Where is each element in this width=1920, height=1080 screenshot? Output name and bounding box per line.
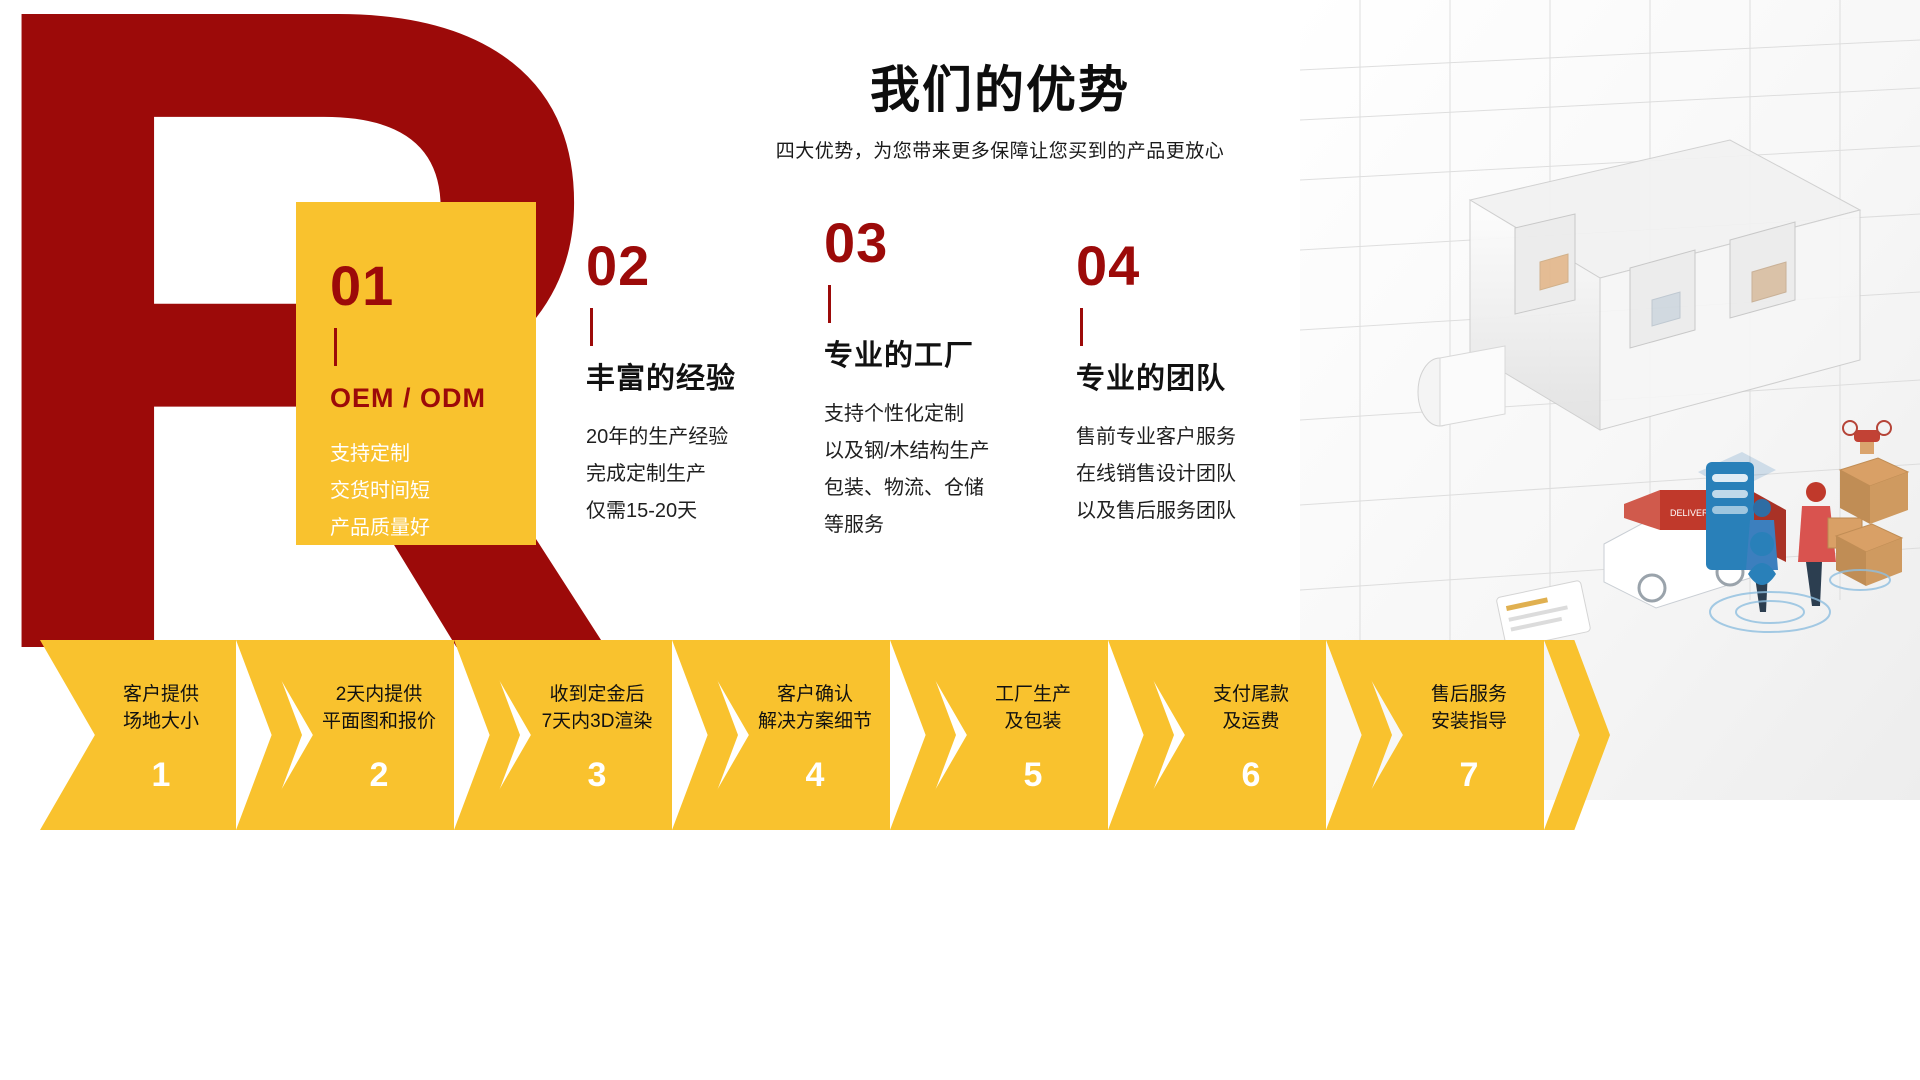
page-title: 我们的优势 [690, 62, 1310, 120]
step-number: 2 [304, 758, 454, 792]
advantage-card-04: 04 专业的团队 售前专业客户服务 在线销售设计团队 以及售后服务团队 [1076, 238, 1326, 530]
advantage-heading: 专业的团队 [1076, 362, 1326, 397]
advantage-line: 产品质量好 [330, 510, 502, 547]
divider-rule [590, 308, 593, 346]
advantage-line: 20年的生产经验 [586, 419, 836, 456]
advantage-line: 包装、物流、仓储 [824, 470, 1074, 507]
advantage-heading: 丰富的经验 [586, 362, 836, 397]
step-line: 售后服务 [1394, 682, 1544, 709]
step-line: 场地大小 [86, 709, 236, 736]
advantage-line: 支持个性化定制 [824, 396, 1074, 433]
advantage-heading: 专业的工厂 [824, 339, 1074, 374]
step-text: 收到定金后 7天内3D渲染 [522, 682, 672, 736]
advantage-line: 售前专业客户服务 [1076, 419, 1326, 456]
advantage-number: 01 [330, 258, 502, 314]
step-number: 6 [1176, 758, 1326, 792]
process-steps: 客户提供 场地大小 1 2天内提供 平面图和报价 2 收到定金后 7天内3D渲染… [0, 640, 1920, 860]
step-line: 及运费 [1176, 709, 1326, 736]
process-step-1: 客户提供 场地大小 1 [40, 640, 284, 830]
advantage-lines: 售前专业客户服务 在线销售设计团队 以及售后服务团队 [1076, 419, 1326, 530]
step-line: 2天内提供 [304, 682, 454, 709]
process-step-6: 支付尾款 及运费 6 [1130, 640, 1374, 830]
step-line: 客户提供 [86, 682, 236, 709]
advantage-lines: 支持定制 交货时间短 产品质量好 [330, 436, 502, 547]
step-text: 工厂生产 及包装 [958, 682, 1108, 736]
step-number: 3 [522, 758, 672, 792]
advantage-number: 02 [586, 238, 836, 294]
process-step-5: 工厂生产 及包装 5 [912, 640, 1156, 830]
advantage-number: 03 [824, 215, 1074, 271]
divider-rule [1080, 308, 1083, 346]
step-line: 安装指导 [1394, 709, 1544, 736]
advantage-line: 完成定制生产 [586, 456, 836, 493]
step-line: 支付尾款 [1176, 682, 1326, 709]
step-text: 2天内提供 平面图和报价 [304, 682, 454, 736]
advantage-line: 交货时间短 [330, 473, 502, 510]
step-text: 支付尾款 及运费 [1176, 682, 1326, 736]
step-line: 收到定金后 [522, 682, 672, 709]
advantage-lines: 20年的生产经验 完成定制生产 仅需15-20天 [586, 419, 836, 530]
advantage-number: 04 [1076, 238, 1326, 294]
page-subtitle: 四大优势，为您带来更多保障让您买到的产品更放心 [690, 136, 1310, 163]
poster-canvas: DELIVERY [0, 0, 1920, 1080]
step-line: 平面图和报价 [304, 709, 454, 736]
advantage-card-02: 02 丰富的经验 20年的生产经验 完成定制生产 仅需15-20天 [586, 238, 836, 530]
process-step-7: 售后服务 安装指导 7 [1348, 640, 1592, 830]
step-text: 客户提供 场地大小 [86, 682, 236, 736]
step-line: 工厂生产 [958, 682, 1108, 709]
step-line: 解决方案细节 [740, 709, 890, 736]
advantage-line: 以及售后服务团队 [1076, 493, 1326, 530]
section-header: 我们的优势 四大优势，为您带来更多保障让您买到的产品更放心 [690, 62, 1310, 163]
chevron-arrow-icon [1544, 640, 1610, 830]
process-step-2: 2天内提供 平面图和报价 2 [258, 640, 502, 830]
advantage-lines: 支持个性化定制 以及钢/木结构生产 包装、物流、仓储 等服务 [824, 396, 1074, 544]
step-text: 客户确认 解决方案细节 [740, 682, 890, 736]
step-line: 客户确认 [740, 682, 890, 709]
advantage-line: 在线销售设计团队 [1076, 456, 1326, 493]
step-number: 1 [86, 758, 236, 792]
advantage-line: 等服务 [824, 507, 1074, 544]
step-number: 4 [740, 758, 890, 792]
advantage-line: 支持定制 [330, 436, 502, 473]
process-step-3: 收到定金后 7天内3D渲染 3 [476, 640, 720, 830]
step-line: 7天内3D渲染 [522, 709, 672, 736]
step-line: 及包装 [958, 709, 1108, 736]
advantage-card-01: 01 OEM / ODM 支持定制 交货时间短 产品质量好 [296, 202, 536, 545]
step-number: 5 [958, 758, 1108, 792]
process-step-4: 客户确认 解决方案细节 4 [694, 640, 938, 830]
advantage-heading: OEM / ODM [330, 382, 502, 414]
advantage-line: 仅需15-20天 [586, 493, 836, 530]
advantage-card-03: 03 专业的工厂 支持个性化定制 以及钢/木结构生产 包装、物流、仓储 等服务 [824, 215, 1074, 544]
step-number: 7 [1394, 758, 1544, 792]
advantage-line: 以及钢/木结构生产 [824, 433, 1074, 470]
step-text: 售后服务 安装指导 [1394, 682, 1544, 736]
divider-rule [334, 328, 337, 366]
divider-rule [828, 285, 831, 323]
